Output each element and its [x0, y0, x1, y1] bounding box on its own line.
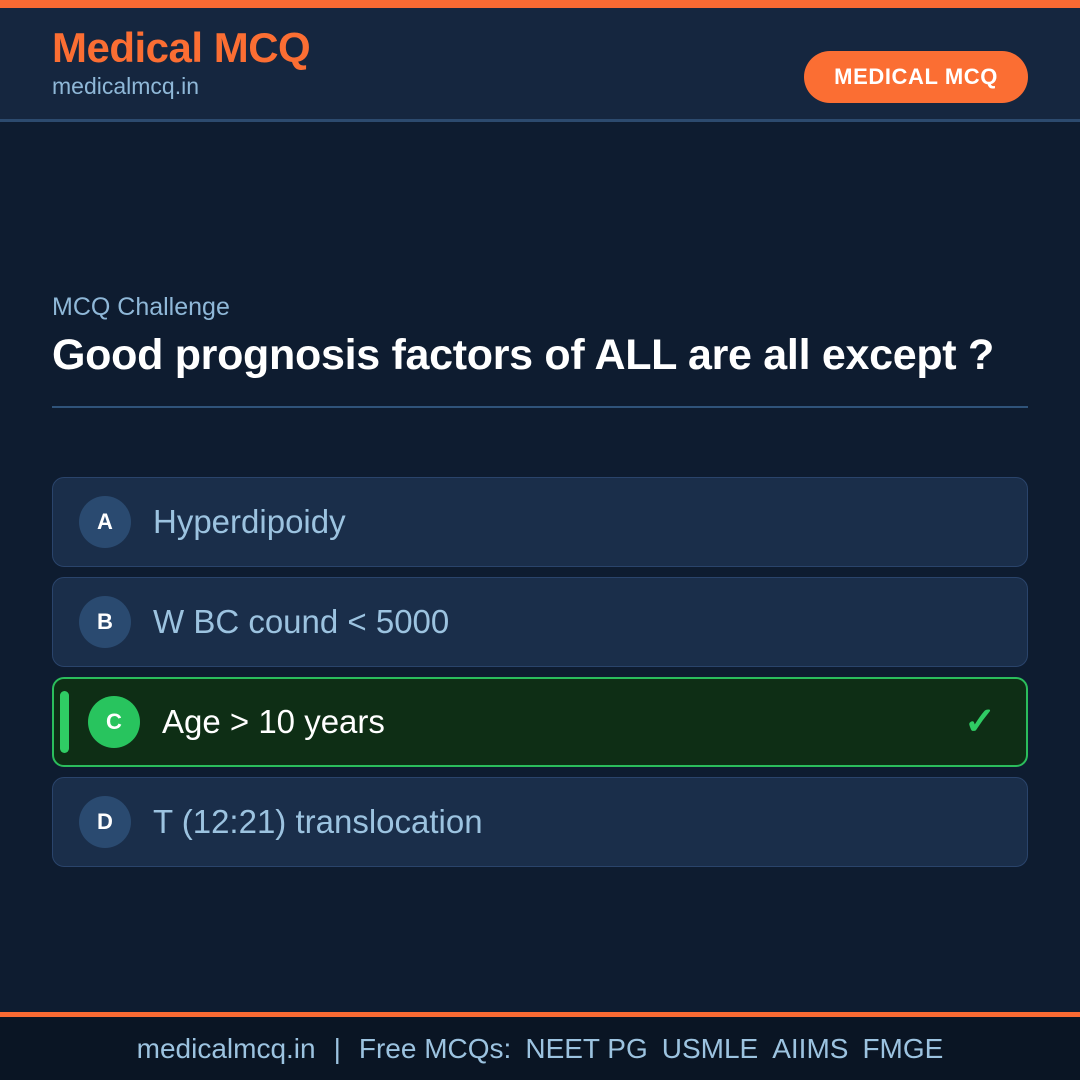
brand-subtitle: medicalmcq.in — [52, 73, 310, 101]
question-eyebrow: MCQ Challenge — [52, 292, 1028, 322]
correct-accent-bar — [60, 691, 69, 753]
footer-site-link[interactable]: medicalmcq.in — [137, 1033, 316, 1065]
top-accent-bar — [0, 0, 1080, 8]
option-label: Hyperdipoidy — [153, 504, 965, 540]
footer-exam-fmge[interactable]: FMGE — [848, 1033, 943, 1065]
brand-title: Medical MCQ — [52, 24, 310, 71]
main-content: MCQ Challenge Good prognosis factors of … — [0, 122, 1080, 1012]
options-list: A Hyperdipoidy ✓ B W BC cound < 5000 ✓ C… — [52, 477, 1028, 877]
footer-separator: | — [316, 1033, 359, 1065]
header-badge: MEDICAL MCQ — [804, 51, 1028, 103]
footer-exam-neet-pg[interactable]: NEET PG — [511, 1033, 647, 1065]
option-b[interactable]: B W BC cound < 5000 ✓ — [52, 577, 1028, 667]
option-label: W BC cound < 5000 — [153, 604, 965, 640]
option-label: Age > 10 years — [162, 704, 964, 740]
footer-exam-aiims[interactable]: AIIMS — [758, 1033, 848, 1065]
page-footer: medicalmcq.in | Free MCQs: NEET PG USMLE… — [0, 1012, 1080, 1080]
page-header: Medical MCQ medicalmcq.in MEDICAL MCQ — [0, 8, 1080, 122]
option-letter-badge: C — [88, 696, 140, 748]
option-d[interactable]: D T (12:21) translocation ✓ — [52, 777, 1028, 867]
footer-exam-usmle[interactable]: USMLE — [648, 1033, 758, 1065]
question-text: Good prognosis factors of ALL are all ex… — [52, 330, 1028, 382]
option-a[interactable]: A Hyperdipoidy ✓ — [52, 477, 1028, 567]
option-letter-badge: B — [79, 596, 131, 648]
option-letter-badge: A — [79, 496, 131, 548]
check-icon: ✓ — [964, 703, 1002, 741]
option-label: T (12:21) translocation — [153, 804, 965, 840]
option-letter-badge: D — [79, 796, 131, 848]
question-block: MCQ Challenge Good prognosis factors of … — [52, 292, 1028, 408]
brand-block: Medical MCQ medicalmcq.in — [52, 24, 310, 101]
footer-content: medicalmcq.in | Free MCQs: NEET PG USMLE… — [137, 1033, 944, 1065]
footer-label: Free MCQs: — [359, 1033, 511, 1065]
option-c[interactable]: C Age > 10 years ✓ — [52, 677, 1028, 767]
question-divider — [52, 406, 1028, 408]
